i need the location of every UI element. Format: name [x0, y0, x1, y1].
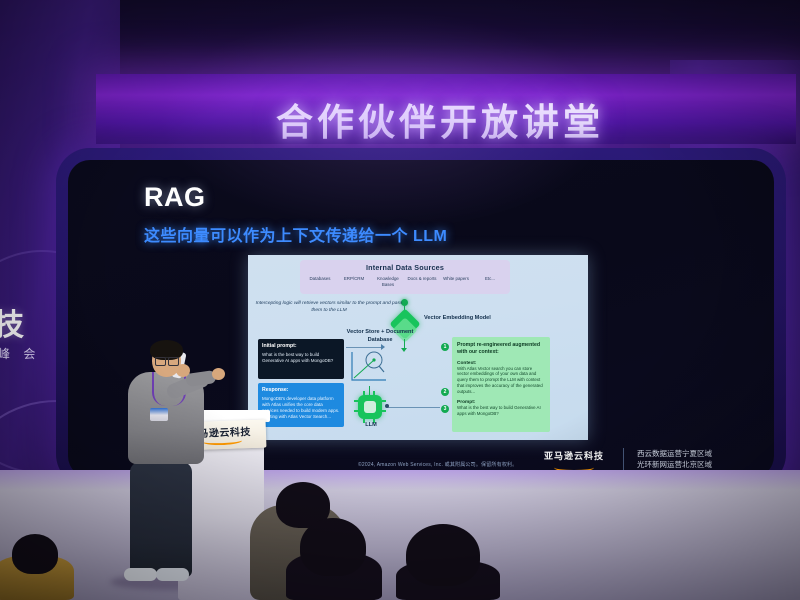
data-source-item: White papers — [440, 276, 472, 287]
step-badge: 1 — [441, 343, 449, 351]
data-source-item: Knowledge Bases — [372, 276, 404, 287]
speaker-shoe-left — [124, 568, 157, 581]
initial-prompt-text: What is the best way to build Generative… — [262, 352, 340, 364]
llm-label: LLM — [358, 422, 384, 430]
step-badge: 3 — [441, 405, 449, 413]
vector-store-database-icon — [348, 348, 390, 386]
amazon-smile-icon — [202, 436, 242, 445]
retrieval-logic-note: Intercepting logic will retrieve vectors… — [254, 301, 404, 314]
audience-member-head — [406, 524, 480, 586]
step-badge: 2 — [441, 388, 449, 396]
flow-arrow-icon — [381, 344, 385, 350]
footer-divider — [623, 448, 624, 470]
speaker-badge — [150, 408, 168, 421]
region-line-1: 西云数据运营宁夏区域 — [637, 448, 712, 459]
slide-subtitle: 这些向量可以作为上下文传递给一个 LLM — [144, 222, 447, 246]
initial-prompt-box: Initial prompt: What is the best way to … — [258, 339, 344, 379]
response-box: Response: MongoDB's developer data platf… — [258, 383, 344, 427]
llm-icon — [358, 395, 382, 419]
flow-connector — [346, 347, 382, 348]
initial-prompt-heading: Initial prompt: — [262, 343, 340, 349]
stage-floor-glow — [0, 470, 800, 490]
aws-logo: 亚马逊云科技 — [544, 449, 604, 472]
audience-member-head — [300, 518, 366, 576]
flow-arrow-icon — [401, 348, 407, 352]
aws-logo-text: 亚马逊云科技 — [544, 451, 604, 461]
response-text: MongoDB's developer data platform with A… — [262, 396, 340, 420]
flow-connector — [388, 407, 440, 408]
speaker-hand-right — [212, 368, 225, 380]
prompt-text: What is the best way to build Generative… — [457, 405, 545, 417]
data-source-item: Docs & reports — [406, 276, 438, 287]
rag-architecture-diagram: Internal Data Sources Databases ERP/CRM … — [248, 255, 588, 440]
slide-title: RAG — [144, 182, 206, 213]
augmented-prompt-heading: Prompt re-engineered augmented with our … — [457, 342, 545, 356]
vector-store-label: Vector Store + Document Database — [344, 329, 416, 344]
context-text: With Atlas Vector search you can store v… — [457, 366, 545, 396]
slide-copyright: ©2024, Amazon Web Services, Inc. 或其附属公司。… — [358, 461, 517, 468]
speaker-shoe-right — [156, 568, 189, 581]
llm-icon-core — [364, 401, 376, 413]
flow-connector — [369, 386, 370, 395]
flow-node-dot — [385, 404, 389, 408]
audience-member-head — [12, 534, 58, 574]
response-heading: Response: — [262, 387, 340, 393]
banner-title-text: 合作伙伴开放讲堂 — [240, 92, 640, 146]
data-source-item: Etc... — [474, 276, 506, 287]
operator-region-note: 西云数据运营宁夏区域 光环新网运营北京区域 — [637, 448, 712, 471]
augmented-prompt-box: Prompt re-engineered augmented with our … — [452, 337, 550, 432]
internal-data-sources-list: Databases ERP/CRM Knowledge Bases Docs &… — [304, 276, 506, 287]
internal-data-sources-box: Internal Data Sources Databases ERP/CRM … — [300, 260, 510, 294]
speaker-legs — [130, 462, 192, 577]
internal-data-sources-title: Internal Data Sources — [300, 263, 510, 272]
data-source-item: ERP/CRM — [338, 276, 370, 287]
vector-embedding-model-label: Vector Embedding Model — [424, 315, 494, 323]
region-line-2: 光环新网运营北京区域 — [637, 459, 712, 470]
conference-stage-photo: 技 峰 会 合作伙伴开放讲堂 RAG 这些向量可以作为上下文传递给一个 LLM … — [0, 0, 800, 600]
data-source-item: Databases — [304, 276, 336, 287]
side-wall-text: 技 — [0, 300, 64, 344]
glasses-icon — [155, 357, 179, 364]
